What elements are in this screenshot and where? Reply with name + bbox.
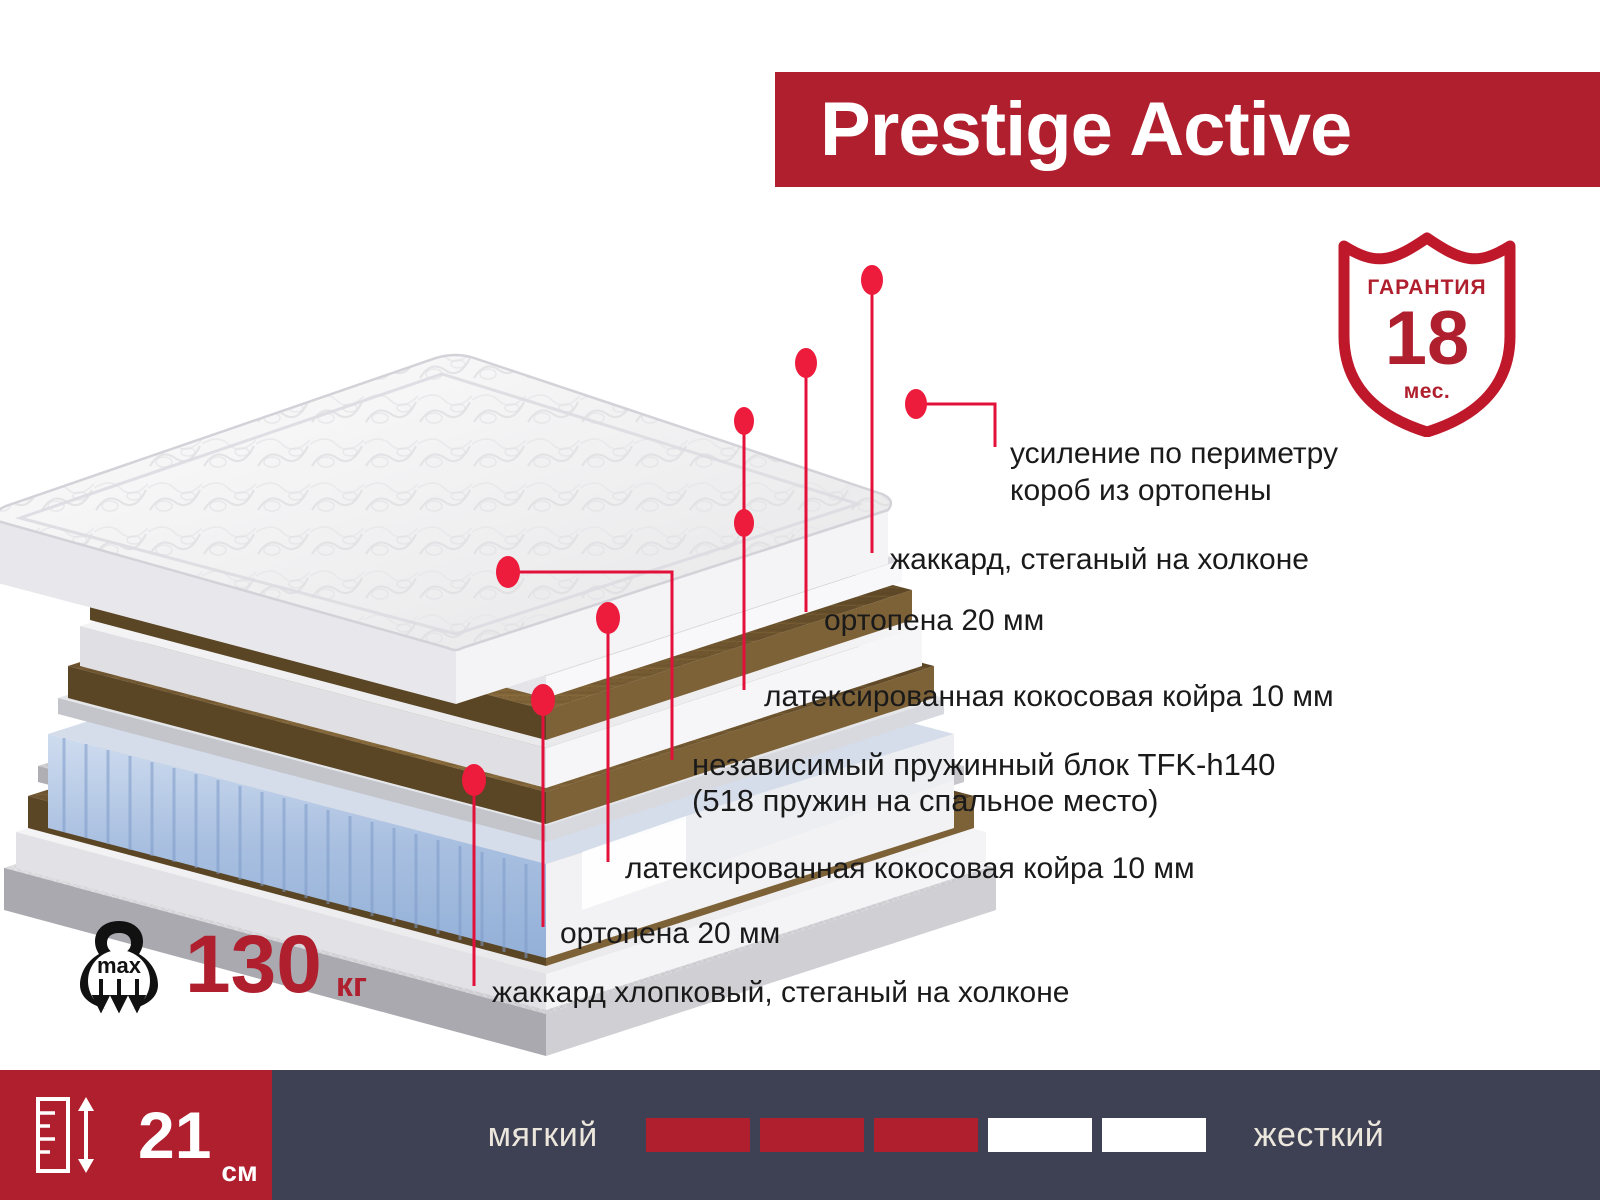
label-jacquard-top: жаккард, стеганый на холконе bbox=[890, 543, 1309, 577]
max-load-value: 130 bbox=[185, 924, 322, 1006]
firmness-segment bbox=[760, 1118, 864, 1152]
product-title-banner: Prestige Active bbox=[775, 72, 1600, 187]
warranty-badge: ГАРАНТИЯ 18 мес. bbox=[1332, 232, 1522, 437]
firmness-scale: мягкий жесткий bbox=[272, 1070, 1600, 1200]
label-perimeter-line2: короб из ортопены bbox=[1010, 474, 1272, 508]
label-perimeter-line1: усиление по периметру bbox=[1010, 437, 1338, 471]
firmness-soft-label: мягкий bbox=[488, 1116, 598, 1155]
label-spring-block-line2: (518 пружин на спальное место) bbox=[692, 784, 1158, 819]
label-spring-block-line1: независимый пружинный блок TFK-h140 bbox=[692, 748, 1275, 783]
label-jacquard-bottom: жаккард хлопковый, стеганый на холконе bbox=[492, 976, 1070, 1010]
height-unit: см bbox=[221, 1156, 257, 1200]
height-spec: 21 см bbox=[0, 1070, 272, 1200]
label-coir-bottom: латексированная кокосовая койра 10 мм bbox=[625, 852, 1195, 886]
firmness-segment bbox=[1102, 1118, 1206, 1152]
label-ortofoam-bottom: ортопена 20 мм bbox=[560, 917, 780, 951]
infographic-canvas: Prestige Active ГАРАНТИЯ 18 мес. усилени… bbox=[0, 0, 1600, 1200]
label-ortofoam-top: ортопена 20 мм bbox=[824, 604, 1044, 638]
ruler-height-icon bbox=[28, 1089, 120, 1181]
firmness-segment bbox=[874, 1118, 978, 1152]
bottom-spec-bar: 21 см мягкий жесткий bbox=[0, 1070, 1600, 1200]
height-value: 21 bbox=[138, 1102, 211, 1168]
warranty-unit: мес. bbox=[1404, 380, 1450, 403]
label-coir-top: латексированная кокосовая койра 10 мм bbox=[764, 680, 1334, 714]
max-load-indicator: max 130 кг bbox=[75, 915, 367, 1015]
max-load-icon-label: max bbox=[97, 953, 142, 978]
firmness-hard-label: жесткий bbox=[1254, 1116, 1385, 1155]
warranty-value: 18 bbox=[1385, 296, 1470, 381]
max-load-unit: кг bbox=[336, 966, 367, 1015]
shield-icon: ГАРАНТИЯ 18 мес. bbox=[1332, 232, 1522, 437]
product-title: Prestige Active bbox=[775, 92, 1351, 168]
firmness-segment bbox=[988, 1118, 1092, 1152]
firmness-segments bbox=[646, 1118, 1206, 1152]
kettlebell-icon: max bbox=[75, 915, 163, 1015]
firmness-segment bbox=[646, 1118, 750, 1152]
